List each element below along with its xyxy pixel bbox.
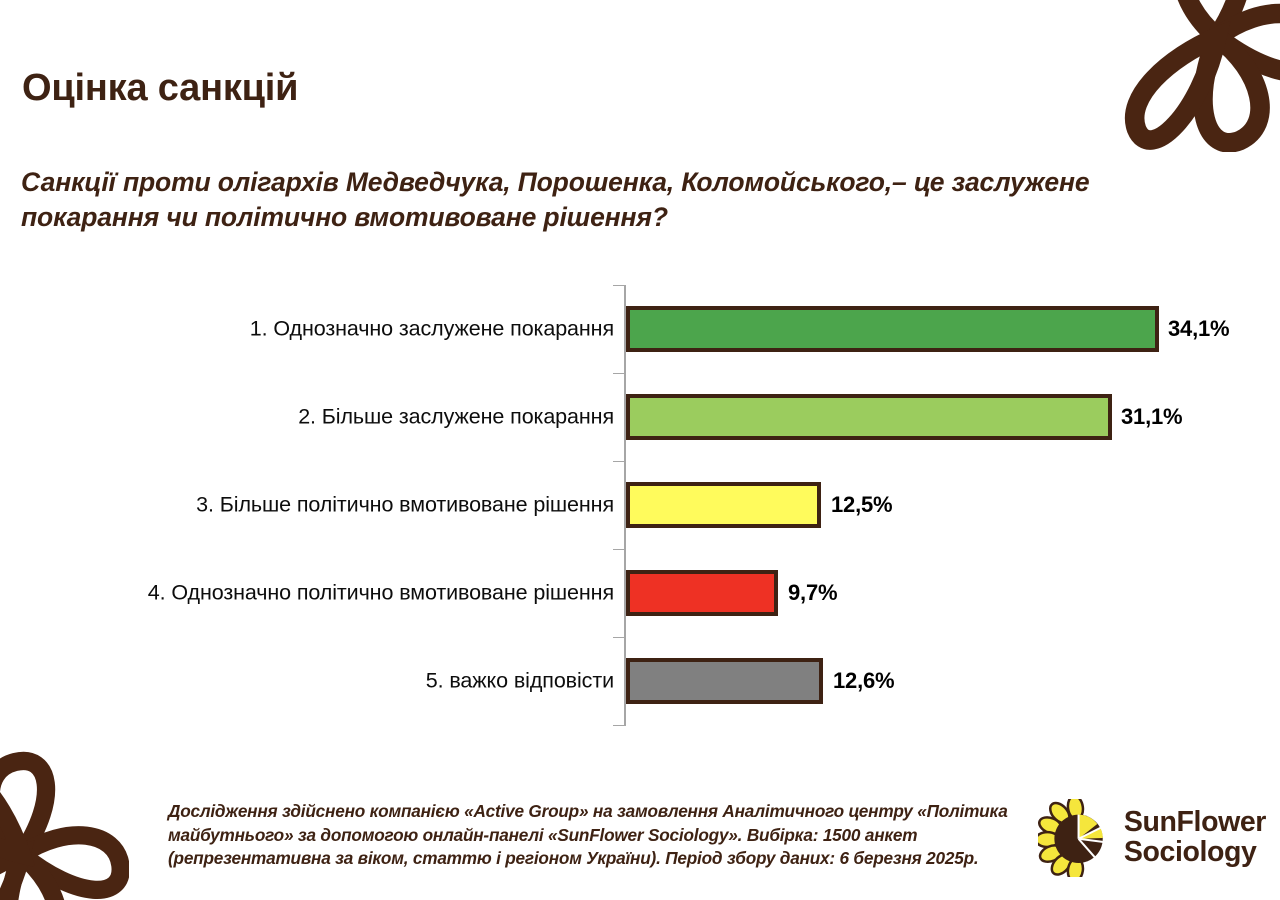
chart-bar-row: 5. важко відповісти 12,6% <box>0 637 1280 725</box>
logo-line-2: Sociology <box>1124 838 1266 868</box>
bar-value-label: 9,7% <box>788 580 837 606</box>
chart-bar-row: 4. Однозначно політично вмотивоване ріше… <box>0 549 1280 637</box>
slide: Оцінка санкцій Санкції проти олігархів М… <box>0 0 1280 900</box>
axis-tick <box>613 725 624 726</box>
bar-category-label: 4. Однозначно політично вмотивоване ріше… <box>148 581 614 606</box>
bar-category-label: 2. Більше заслужене покарання <box>298 405 614 430</box>
flower-decoration-icon <box>1102 0 1280 152</box>
bar-value-label: 34,1% <box>1168 316 1229 342</box>
bar-category-label: 1. Однозначно заслужене покарання <box>250 317 614 342</box>
chart-plot-area: 1. Однозначно заслужене покарання 34,1% … <box>0 272 1280 727</box>
bar-value-label: 31,1% <box>1121 404 1182 430</box>
bar-series-item[interactable] <box>626 570 778 616</box>
sunflower-icon <box>1038 799 1116 877</box>
bar-series-item[interactable] <box>626 394 1112 440</box>
sunflower-sociology-logo: SunFlower Sociology <box>1038 798 1266 878</box>
bar-value-label: 12,6% <box>833 668 894 694</box>
flower-decoration-icon <box>0 747 129 900</box>
logo-wordmark: SunFlower Sociology <box>1124 808 1266 867</box>
bar-chart: 1. Однозначно заслужене покарання 34,1% … <box>0 272 1280 742</box>
bar-series-item[interactable] <box>626 658 823 704</box>
chart-question-subtitle: Санкції проти олігархів Медведчука, Поро… <box>21 165 1151 236</box>
logo-line-1: SunFlower <box>1124 808 1266 838</box>
chart-bar-row: 2. Більше заслужене покарання 31,1% <box>0 373 1280 461</box>
page-title: Оцінка санкцій <box>22 67 298 110</box>
methodology-footnote: Дослідження здійснено компанією «Active … <box>168 800 1038 871</box>
bar-series-item[interactable] <box>626 306 1159 352</box>
chart-bar-row: 3. Більше політично вмотивоване рішення … <box>0 461 1280 549</box>
bar-category-label: 3. Більше політично вмотивоване рішення <box>196 493 614 518</box>
bar-value-label: 12,5% <box>831 492 892 518</box>
bar-category-label: 5. важко відповісти <box>426 669 614 694</box>
chart-bar-row: 1. Однозначно заслужене покарання 34,1% <box>0 285 1280 373</box>
bar-series-item[interactable] <box>626 482 821 528</box>
